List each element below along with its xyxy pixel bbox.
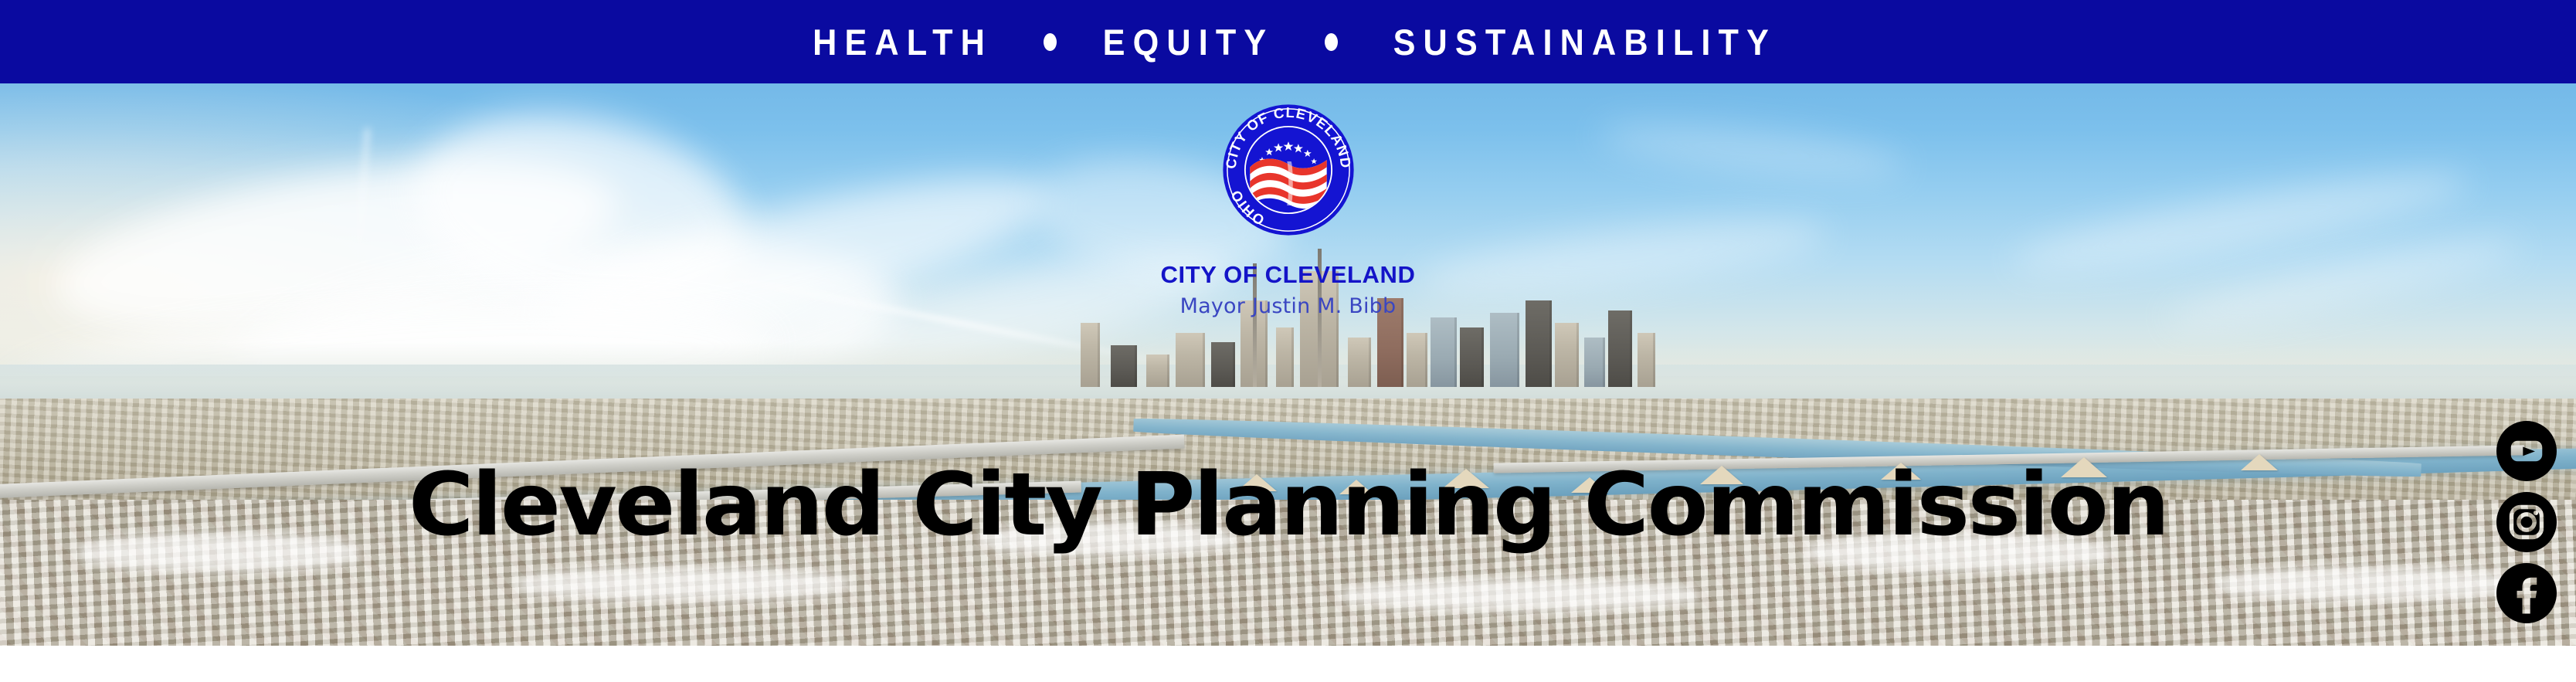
youtube-icon[interactable] (2496, 421, 2557, 481)
facebook-icon[interactable] (2496, 563, 2557, 623)
tagline-word-health: HEALTH (813, 24, 993, 60)
aggregate-pile (2061, 457, 2107, 477)
aggregate-pile (1339, 480, 1373, 494)
snow-patch (1804, 533, 2113, 572)
foreground-texture (0, 500, 2576, 646)
tagline-word-equity: EQUITY (1102, 24, 1274, 60)
tagline-word-sustainability: SUSTAINABILITY (1393, 24, 1776, 60)
downtown-skyline (1069, 263, 1661, 387)
aggregate-pile (1443, 469, 1489, 488)
tagline-bar: HEALTH EQUITY SUSTAINABILITY (0, 0, 2576, 83)
facebook-link[interactable] (2496, 563, 2557, 623)
hero-photo (0, 83, 2576, 646)
youtube-link[interactable] (2496, 421, 2557, 481)
snow-patch (1339, 579, 1700, 612)
aggregate-pile (1700, 466, 1743, 484)
tagline-separator-dot-2 (1325, 33, 1338, 51)
snow-patch (515, 567, 850, 601)
tagline-inner: HEALTH EQUITY SUSTAINABILITY (805, 24, 1794, 60)
snow-patch (979, 522, 1237, 556)
aggregate-pile (1571, 477, 1608, 493)
social-links (2494, 421, 2559, 623)
aggregate-pile (2241, 454, 2278, 470)
site-banner: HEALTH EQUITY SUSTAINABILITY (0, 0, 2576, 682)
snow-patch (2215, 567, 2524, 601)
instagram-icon[interactable] (2496, 492, 2557, 552)
tagline-separator-dot-1 (1044, 33, 1057, 51)
instagram-link[interactable] (2496, 492, 2557, 552)
aggregate-pile (1237, 474, 1277, 491)
aggregate-pile (1881, 463, 1921, 480)
snow-patch (77, 533, 361, 572)
page-background (0, 646, 2576, 682)
